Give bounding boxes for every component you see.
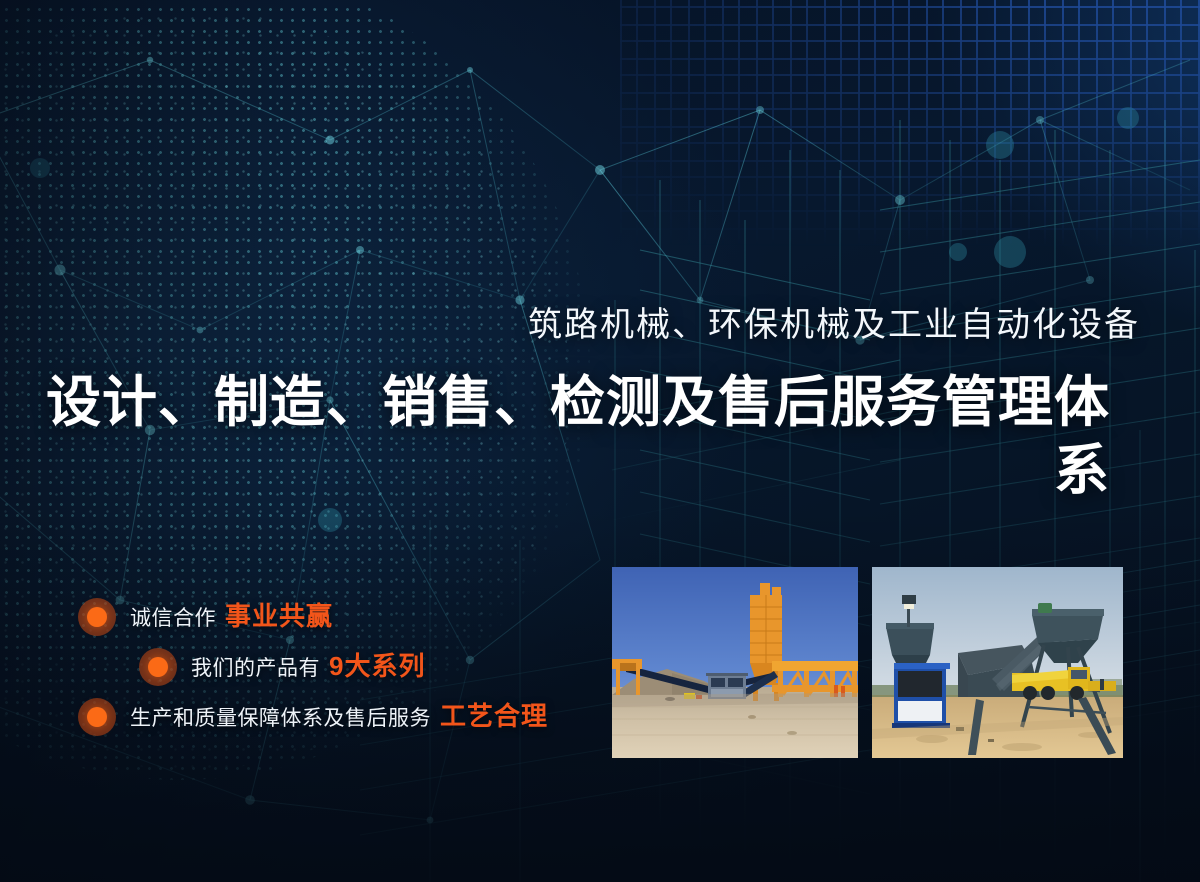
promo-banner: 筑路机械、环保机械及工业自动化设备 设计、制造、销售、检测及售后服务管理体系 诚… [0, 0, 1200, 882]
bullet-item-1: 诚信合作事业共赢 [0, 592, 600, 642]
bullet-text-1: 诚信合作事业共赢 [130, 602, 333, 633]
bullet-item-2: 我们的产品有9大系列 [0, 642, 600, 692]
bullet-item-3: 生产和质量保障体系及售后服务工艺合理 [0, 692, 600, 742]
bullet-label-1: 诚信合作 [130, 607, 216, 630]
photo-concrete-batching-plant [612, 567, 858, 758]
bullet-dot-icon [139, 648, 177, 686]
bullet-emphasis-3: 工艺合理 [440, 701, 548, 731]
banner-subtitle: 筑路机械、环保机械及工业自动化设备 [0, 303, 1140, 347]
bullet-text-3: 生产和质量保障体系及售后服务工艺合理 [130, 702, 548, 733]
feature-bullet-list: 诚信合作事业共赢 我们的产品有9大系列 生产和质量保障体系及售后服务工艺合理 [0, 592, 600, 742]
photo-mobile-mixing-plant [872, 567, 1123, 758]
bullet-emphasis-1: 事业共赢 [225, 601, 333, 631]
bullet-label-3: 生产和质量保障体系及售后服务 [130, 707, 431, 730]
bullet-text-2: 我们的产品有9大系列 [191, 652, 425, 683]
photo-right-art [872, 567, 1123, 758]
banner-headline: 设计、制造、销售、检测及售后服务管理体系 [0, 368, 1110, 504]
bullet-emphasis-2: 9大系列 [329, 651, 425, 681]
photo-left-art [612, 567, 858, 758]
bullet-dot-icon [78, 698, 116, 736]
bullet-dot-icon [78, 598, 116, 636]
bullet-label-2: 我们的产品有 [191, 657, 320, 680]
